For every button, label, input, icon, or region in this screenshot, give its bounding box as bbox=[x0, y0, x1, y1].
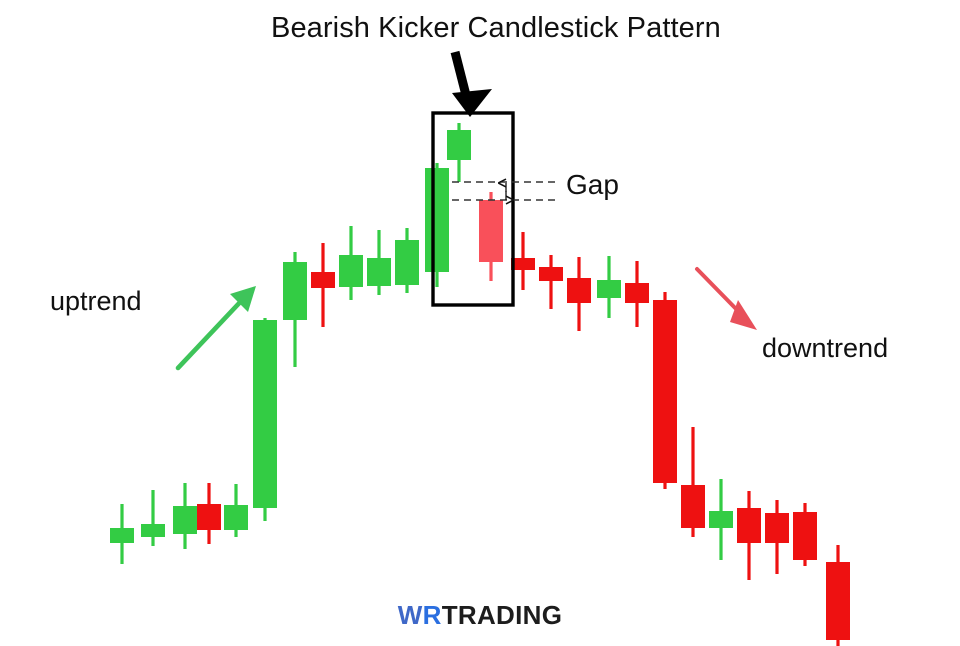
candle bbox=[197, 483, 221, 544]
candle bbox=[425, 163, 449, 287]
candle bbox=[224, 484, 248, 537]
candle bbox=[625, 261, 649, 327]
candle-body bbox=[765, 513, 789, 543]
candle-body bbox=[110, 528, 134, 543]
logo-wordmark: TRADING bbox=[442, 600, 563, 630]
candle-body bbox=[793, 512, 817, 560]
candle-body bbox=[539, 267, 563, 281]
candle-body bbox=[653, 300, 677, 483]
candle-body bbox=[283, 262, 307, 320]
candle bbox=[793, 503, 817, 566]
candle bbox=[597, 256, 621, 318]
candle bbox=[283, 252, 307, 367]
candlestick-diagram: Bearish Kicker Candlestick Pattern Gap u… bbox=[0, 0, 960, 646]
candle-wick bbox=[549, 255, 552, 309]
chart-canvas bbox=[0, 0, 960, 646]
watermark-logo: WRTRADING bbox=[0, 600, 960, 631]
candle-body bbox=[311, 272, 335, 288]
uptrend-label: uptrend bbox=[50, 286, 142, 317]
candle bbox=[447, 123, 471, 182]
logo-letter-w: W bbox=[398, 600, 423, 630]
candle bbox=[173, 483, 197, 549]
candle bbox=[653, 292, 677, 489]
candle bbox=[311, 243, 335, 327]
candle bbox=[110, 504, 134, 564]
candle-body bbox=[395, 240, 419, 285]
candle-body bbox=[709, 511, 733, 528]
candle-body bbox=[367, 258, 391, 286]
candle bbox=[395, 228, 419, 293]
candle bbox=[737, 491, 761, 580]
candle-body bbox=[447, 130, 471, 160]
candle bbox=[567, 257, 591, 331]
candle-body bbox=[479, 200, 503, 262]
candle-body bbox=[173, 506, 197, 534]
candle bbox=[253, 318, 277, 521]
downtrend-label: downtrend bbox=[762, 333, 888, 364]
candle bbox=[681, 427, 705, 537]
candle bbox=[765, 500, 789, 574]
candles-layer bbox=[110, 123, 850, 646]
uptrend-arrow-shaft bbox=[178, 298, 244, 368]
candle-body bbox=[737, 508, 761, 543]
candle bbox=[479, 192, 503, 281]
candle-body bbox=[425, 168, 449, 272]
gap-label: Gap bbox=[566, 169, 619, 201]
page-title: Bearish Kicker Candlestick Pattern bbox=[271, 12, 721, 45]
candle-body bbox=[141, 524, 165, 537]
candle bbox=[339, 226, 363, 300]
candle-wick bbox=[151, 490, 154, 546]
candle-body bbox=[597, 280, 621, 298]
candle-body bbox=[681, 485, 705, 528]
candle-body bbox=[567, 278, 591, 303]
candle bbox=[367, 230, 391, 295]
candle-body bbox=[625, 283, 649, 303]
candle bbox=[539, 255, 563, 309]
candle-body bbox=[197, 504, 221, 530]
logo-letter-r: R bbox=[423, 600, 442, 630]
candle-body bbox=[224, 505, 248, 530]
candle-body bbox=[339, 255, 363, 287]
candle bbox=[141, 490, 165, 546]
candle bbox=[709, 479, 733, 560]
candle-body bbox=[253, 320, 277, 508]
